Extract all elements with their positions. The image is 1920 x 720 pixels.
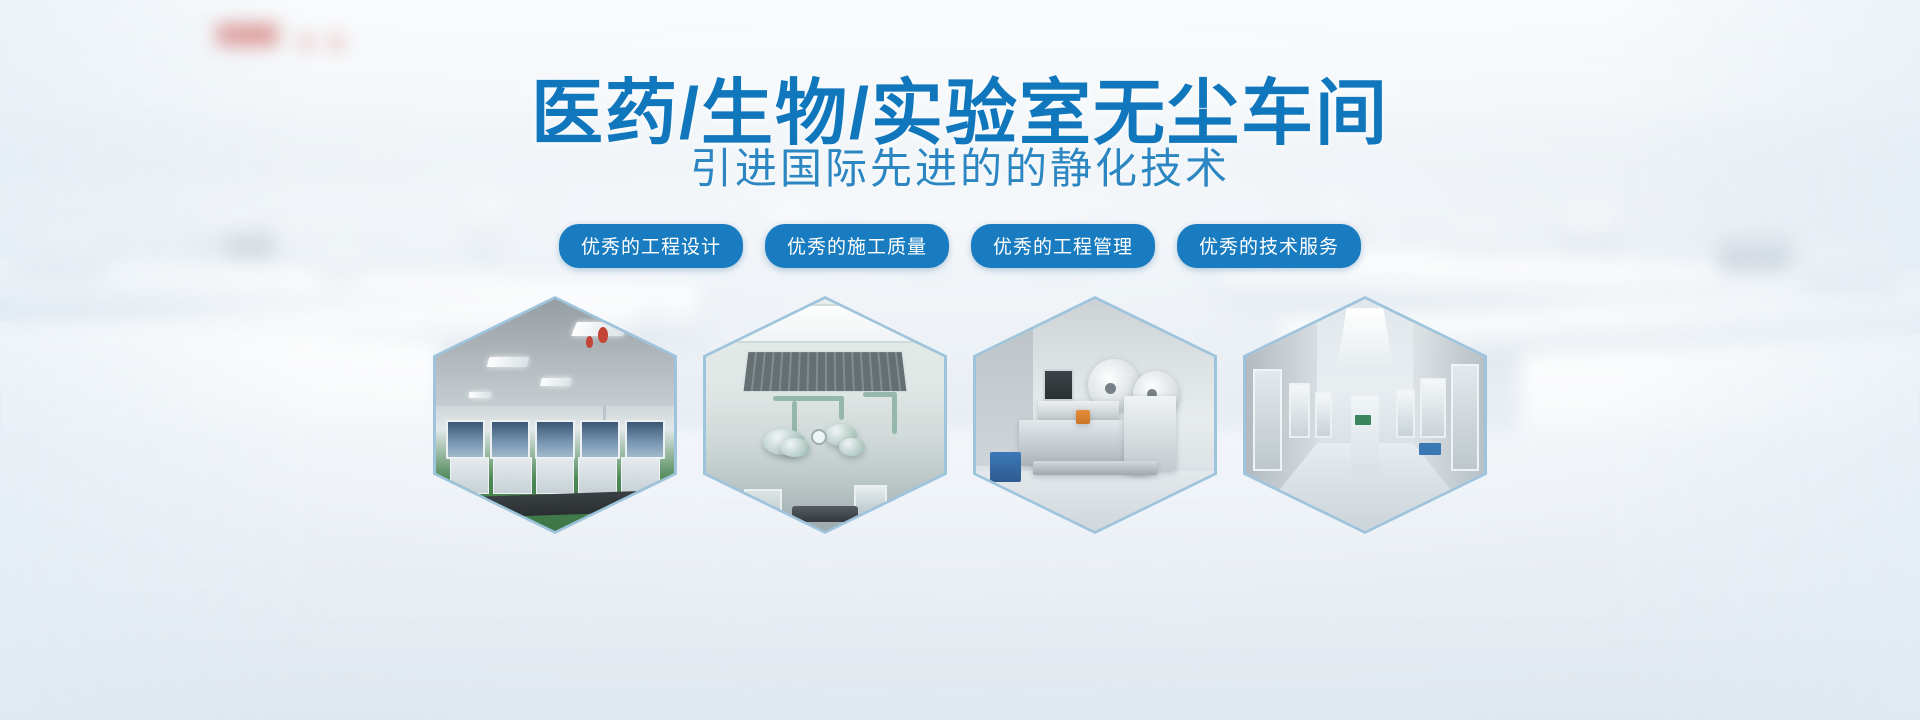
badge-technical-service[interactable]: 优秀的技术服务 xyxy=(1177,224,1361,268)
hexagon-tile-operating-theatre-cleanroom[interactable] xyxy=(703,296,947,534)
page-title: 医药/生物/实验室无尘车间 xyxy=(0,78,1920,150)
badge-engineering-design[interactable]: 优秀的工程设计 xyxy=(559,224,743,268)
hexagon-tile-clean-corridor[interactable] xyxy=(1243,296,1487,534)
feature-badge-list: 优秀的工程设计 优秀的施工质量 优秀的工程管理 优秀的技术服务 xyxy=(0,224,1920,268)
badge-engineering-management[interactable]: 优秀的工程管理 xyxy=(971,224,1155,268)
hexagon-tile-packaging-machinery-cleanroom[interactable] xyxy=(973,296,1217,534)
hero-banner: 医药/生物/实验室无尘车间 引进国际先进的的静化技术 优秀的工程设计 优秀的施工… xyxy=(0,0,1920,720)
badge-construction-quality[interactable]: 优秀的施工质量 xyxy=(765,224,949,268)
hexagon-photo-operating-theatre-cleanroom xyxy=(706,299,944,531)
hexagon-photo-clean-corridor xyxy=(1246,299,1484,531)
hexagon-photo-laboratory-cleanroom xyxy=(436,299,674,531)
page-subtitle: 引进国际先进的的静化技术 xyxy=(0,148,1920,190)
hexagon-tile-laboratory-cleanroom[interactable] xyxy=(433,296,677,534)
hexagon-photo-packaging-machinery-cleanroom xyxy=(976,299,1214,531)
hexagon-gallery xyxy=(0,296,1920,534)
